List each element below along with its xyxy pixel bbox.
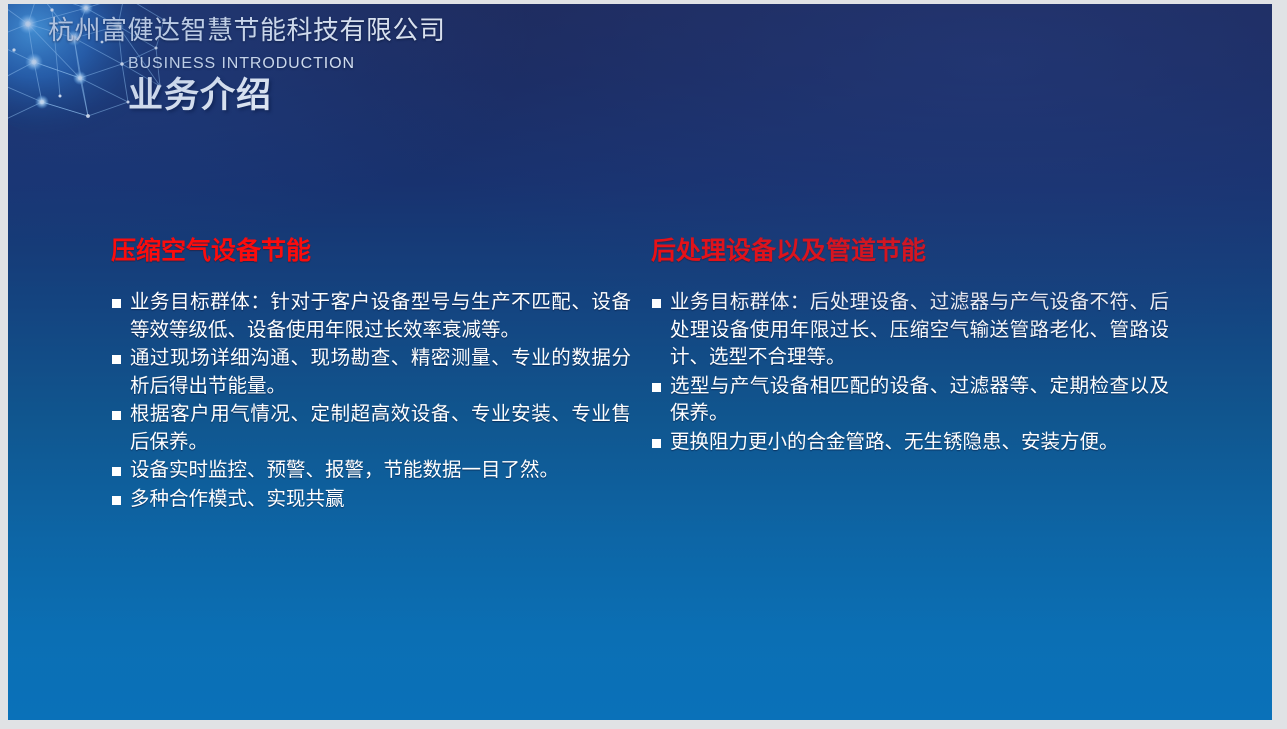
- content-column-left: 压缩空气设备节能 业务目标群体：针对于客户设备型号与生产不匹配、设备等效等级低、…: [111, 235, 631, 514]
- square-bullet-icon: [112, 411, 121, 420]
- square-bullet-icon: [112, 299, 121, 308]
- list-item-text: 通过现场详细沟通、现场勘查、精密测量、专业的数据分析后得出节能量。: [130, 347, 631, 397]
- square-bullet-icon: [652, 299, 661, 308]
- list-item-text: 设备实时监控、预警、报警，节能数据一目了然。: [130, 459, 559, 481]
- list-item: 更换阻力更小的合金管路、无生锈隐患、安装方便。: [651, 429, 1169, 457]
- content-column-right: 后处理设备以及管道节能 业务目标群体：后处理设备、过滤器与产气设备不符、后处理设…: [651, 235, 1169, 457]
- section-subtitle-en: BUSINESS INTRODUCTION: [128, 54, 355, 73]
- list-item-text: 根据客户用气情况、定制超高效设备、专业安装、专业售后保养。: [130, 403, 631, 453]
- column-left-title: 压缩空气设备节能: [111, 235, 631, 267]
- list-item-text: 业务目标群体：针对于客户设备型号与生产不匹配、设备等效等级低、设备使用年限过长效…: [130, 291, 631, 341]
- list-item-text: 更换阻力更小的合金管路、无生锈隐患、安装方便。: [670, 431, 1119, 453]
- list-item-text: 多种合作模式、实现共赢: [130, 488, 345, 510]
- presentation-slide: 杭州富健达智慧节能科技有限公司 BUSINESS INTRODUCTION 业务…: [8, 4, 1272, 720]
- square-bullet-icon: [652, 383, 661, 392]
- list-item-text: 业务目标群体：后处理设备、过滤器与产气设备不符、后处理设备使用年限过长、压缩空气…: [670, 291, 1169, 368]
- list-item: 通过现场详细沟通、现场勘查、精密测量、专业的数据分析后得出节能量。: [111, 345, 631, 400]
- slide-frame: 杭州富健达智慧节能科技有限公司 BUSINESS INTRODUCTION 业务…: [0, 0, 1287, 729]
- square-bullet-icon: [112, 467, 121, 476]
- square-bullet-icon: [652, 439, 661, 448]
- list-item: 多种合作模式、实现共赢: [111, 486, 631, 514]
- company-name: 杭州富健达智慧节能科技有限公司: [48, 15, 446, 45]
- list-item: 选型与产气设备相匹配的设备、过滤器等、定期检查以及保养。: [651, 373, 1169, 428]
- square-bullet-icon: [112, 496, 121, 505]
- column-right-bullet-list: 业务目标群体：后处理设备、过滤器与产气设备不符、后处理设备使用年限过长、压缩空气…: [651, 289, 1169, 456]
- section-title-cn: 业务介绍: [128, 75, 272, 117]
- list-item: 业务目标群体：针对于客户设备型号与生产不匹配、设备等效等级低、设备使用年限过长效…: [111, 289, 631, 344]
- list-item: 设备实时监控、预警、报警，节能数据一目了然。: [111, 457, 631, 485]
- list-item-text: 选型与产气设备相匹配的设备、过滤器等、定期检查以及保养。: [670, 375, 1169, 425]
- column-left-bullet-list: 业务目标群体：针对于客户设备型号与生产不匹配、设备等效等级低、设备使用年限过长效…: [111, 289, 631, 513]
- column-right-title: 后处理设备以及管道节能: [651, 235, 1169, 267]
- square-bullet-icon: [112, 355, 121, 364]
- list-item: 业务目标群体：后处理设备、过滤器与产气设备不符、后处理设备使用年限过长、压缩空气…: [651, 289, 1169, 372]
- list-item: 根据客户用气情况、定制超高效设备、专业安装、专业售后保养。: [111, 401, 631, 456]
